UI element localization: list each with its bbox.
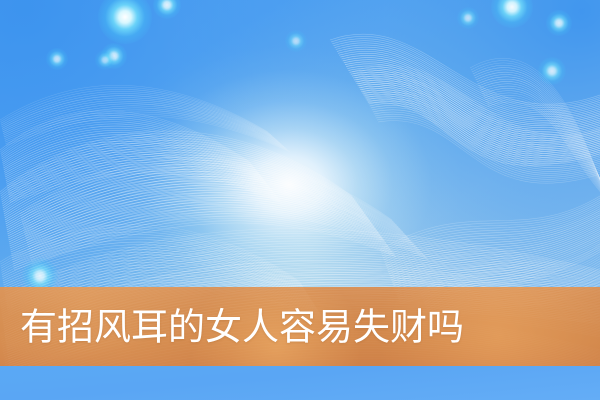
glow-dot: [46, 48, 68, 70]
banner-title-text: 有招风耳的女人容易失财吗: [20, 308, 464, 345]
glow-dot: [546, 10, 572, 36]
glow-dot: [457, 7, 479, 29]
glow-dot: [538, 57, 567, 86]
glow-dot: [491, 0, 533, 28]
footer-strip: [0, 366, 600, 400]
banner-image: 有招风耳的女人容易失财吗: [0, 0, 600, 400]
glow-dot: [153, 0, 182, 19]
glow-dot: [95, 50, 114, 69]
glow-dot: [98, 0, 152, 44]
title-banner: 有招风耳的女人容易失财吗: [0, 287, 600, 366]
glow-dot: [101, 43, 127, 69]
glow-dot: [285, 30, 307, 52]
